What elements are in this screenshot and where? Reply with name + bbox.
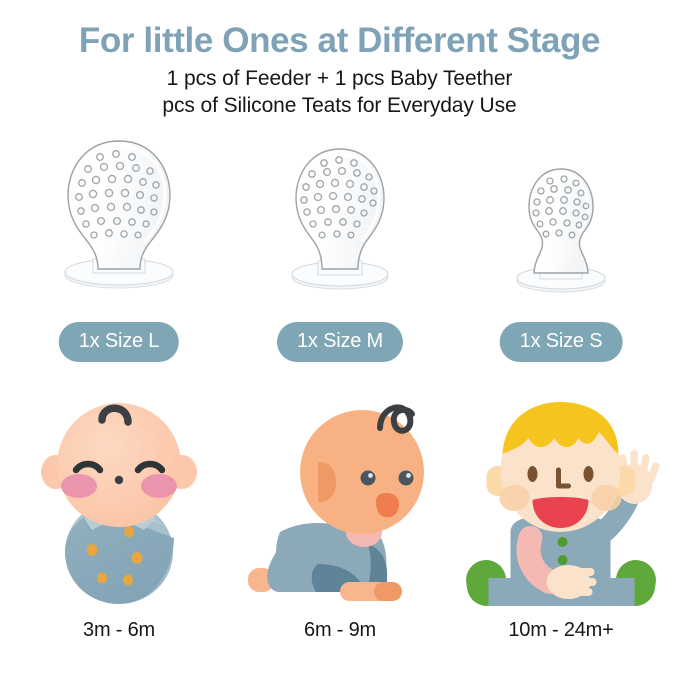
waving-sitting-baby-icon	[459, 392, 664, 612]
crawling-baby-icon	[240, 392, 440, 612]
teat-cell-large: 1x Size L	[6, 140, 232, 370]
baby-stage-row: 3m - 6m	[0, 388, 679, 658]
age-label-10m-24m: 10m - 24m+	[448, 619, 674, 642]
subtitle-line-1: 1 pcs of Feeder + 1 pcs Baby Teether	[0, 66, 679, 93]
teat-cell-small: 1x Size S	[448, 140, 674, 370]
stage-cell-10m-24m: 10m - 24m+	[448, 388, 674, 658]
teat-size-row: 1x Size L	[0, 140, 679, 370]
teat-cell-medium: 1x Size M	[227, 140, 453, 370]
subtitle-line-2: pcs of Silicone Teats for Everyday Use	[0, 93, 679, 120]
size-badge-large: 1x Size L	[59, 322, 179, 362]
stage-cell-3m-6m: 3m - 6m	[6, 388, 232, 658]
silicone-feeder-teat-small-icon	[502, 163, 620, 298]
infographic-header: For little Ones at Different Stage 1 pcs…	[0, 0, 679, 120]
stage-cell-6m-9m: 6m - 9m	[227, 388, 453, 658]
age-label-6m-9m: 6m - 9m	[227, 619, 453, 642]
page-subtitle: 1 pcs of Feeder + 1 pcs Baby Teether pcs…	[0, 60, 679, 120]
silicone-feeder-teat-large-icon	[44, 133, 194, 298]
size-badge-small: 1x Size S	[500, 322, 623, 362]
age-label-3m-6m: 3m - 6m	[6, 619, 232, 642]
sleeping-swaddled-baby-icon	[24, 392, 214, 612]
silicone-feeder-teat-medium-icon	[274, 141, 406, 298]
size-badge-medium: 1x Size M	[277, 322, 403, 362]
page-title: For little Ones at Different Stage	[0, 0, 679, 60]
